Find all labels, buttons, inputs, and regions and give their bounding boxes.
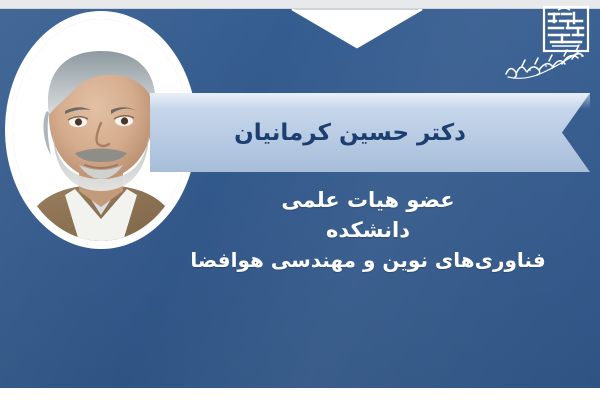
title-block: عضو هیات علمی دانشکده فناوری‌های نوین و … xyxy=(150,186,586,274)
bottom-edge-strip xyxy=(0,388,600,400)
title-line-1: عضو هیات علمی xyxy=(150,186,586,216)
university-logo xyxy=(502,4,594,82)
profile-banner: دکتر حسین کرمانیان xyxy=(0,0,600,400)
title-line-3: فناوری‌های نوین و مهندسی هوافضا xyxy=(150,246,586,274)
logo-square-mark xyxy=(544,7,588,51)
person-name: دکتر حسین کرمانیان xyxy=(150,93,550,172)
title-line-2: دانشکده xyxy=(150,216,586,246)
